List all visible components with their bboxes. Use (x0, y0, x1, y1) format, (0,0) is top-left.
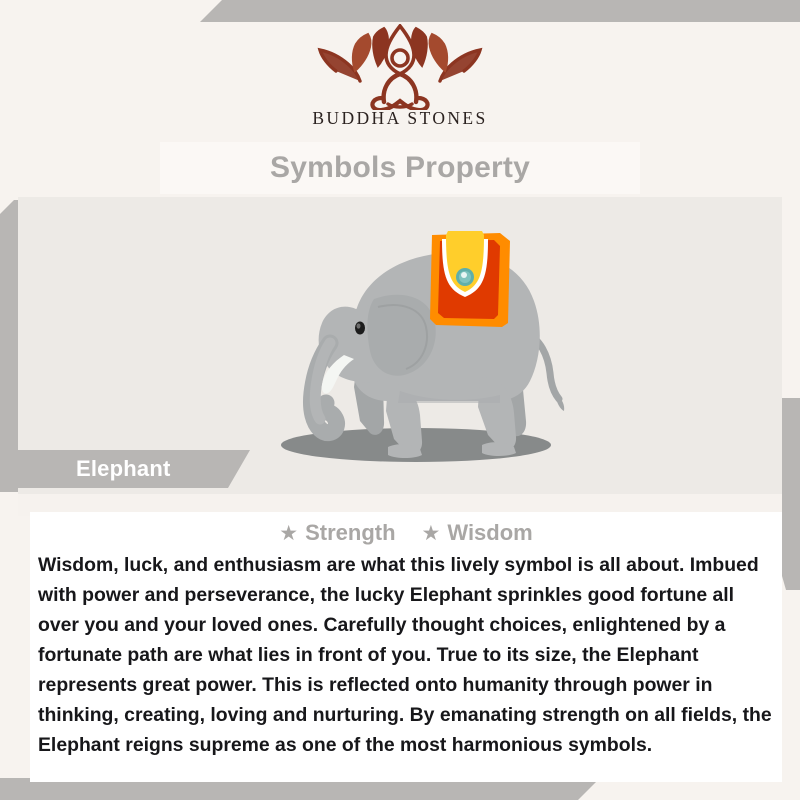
title-band: Symbols Property (0, 142, 800, 197)
attribute-label: Wisdom (447, 520, 532, 546)
top-corner-decoration (0, 0, 800, 22)
brand-name: BUDDHA STONES (312, 108, 487, 129)
walking-elephant-with-saddle-icon (238, 215, 578, 477)
attribute-label: Strength (305, 520, 395, 546)
star-icon: ★ (422, 523, 441, 544)
left-edge-decoration (0, 200, 18, 492)
symbol-name-tab: Elephant (0, 450, 250, 488)
illustration-panel (18, 197, 782, 494)
symbol-property-card: BUDDHA STONES Symbols Property (0, 0, 800, 800)
attribute-strength: ★ Strength (279, 520, 395, 546)
symbol-description: Wisdom, luck, and enthusiasm are what th… (30, 550, 782, 760)
lotus-meditation-figure-icon (312, 24, 488, 110)
symbol-content: ★ Strength ★ Wisdom Wisdom, luck, and en… (30, 512, 782, 782)
page-title: Symbols Property (270, 151, 530, 185)
attribute-wisdom: ★ Wisdom (422, 520, 533, 546)
symbol-name: Elephant (76, 456, 171, 482)
title-panel: Symbols Property (160, 142, 640, 194)
brand-header: BUDDHA STONES (0, 22, 800, 140)
star-icon: ★ (279, 523, 298, 544)
attribute-list: ★ Strength ★ Wisdom (30, 516, 782, 550)
right-edge-decoration (782, 398, 800, 590)
